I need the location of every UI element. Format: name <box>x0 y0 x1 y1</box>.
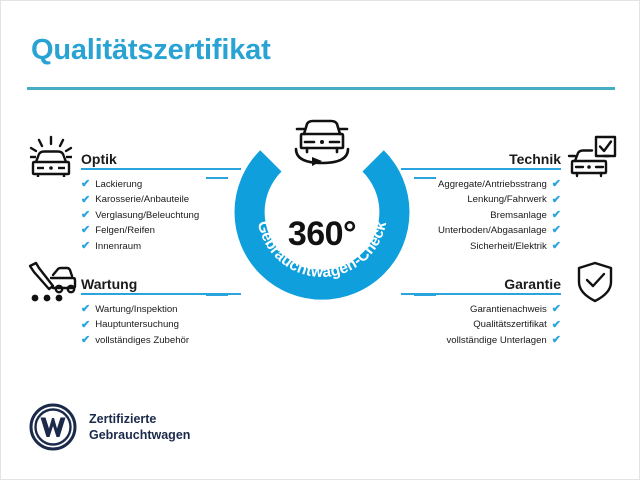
check-icon: ✔ <box>81 179 90 190</box>
list-item: ✔Felgen/Reifen <box>81 223 241 238</box>
section-header: Garantie <box>401 269 561 295</box>
list-item: ✔Karosserie/Anbauteile <box>81 192 241 207</box>
page-title: Qualitätszertifikat <box>31 34 271 67</box>
section-garantie: Garantie Garantienachweis✔ Qualitätszert… <box>401 269 561 348</box>
guide-tick <box>414 177 436 179</box>
check-icon: ✔ <box>81 195 90 206</box>
list-item-label: Felgen/Reifen <box>95 223 155 238</box>
list-item-label: vollständige Unterlagen <box>447 333 547 348</box>
guide-tick <box>206 177 228 179</box>
section-divider <box>401 168 561 170</box>
check-icon: ✔ <box>552 225 561 236</box>
list-item: Bremsanlage✔ <box>401 208 561 223</box>
list-item-label: vollständiges Zubehör <box>95 333 189 348</box>
certificate-page: Qualitätszertifikat <box>0 0 640 480</box>
list-item-label: Lackierung <box>95 177 142 192</box>
list-item-label: Wartung/Inspektion <box>95 302 177 317</box>
list-item: ✔Lackierung <box>81 177 241 192</box>
footer-line-2: Gebrauchtwagen <box>89 427 190 443</box>
list-item: Qualitätszertifikat✔ <box>401 317 561 332</box>
check-icon: ✔ <box>552 210 561 221</box>
list-item-label: Innenraum <box>95 239 141 254</box>
car-front-rotate-icon <box>282 113 362 173</box>
car-checkbox-icon <box>565 135 617 179</box>
list-item: ✔Verglasung/Beleuchtung <box>81 208 241 223</box>
check-icon: ✔ <box>81 241 90 252</box>
section-header: Optik <box>81 144 241 170</box>
section-header: Wartung <box>81 269 241 295</box>
section-title: Technik <box>509 151 561 167</box>
check-icon: ✔ <box>81 335 90 346</box>
guide-tick <box>206 294 228 296</box>
check-icon: ✔ <box>552 320 561 331</box>
list-item-label: Unterboden/Abgasanlage <box>438 223 547 238</box>
checklist: Garantienachweis✔ Qualitätszertifikat✔ v… <box>401 302 561 348</box>
list-item-label: Sicherheit/Elektrik <box>470 239 547 254</box>
list-item: Unterboden/Abgasanlage✔ <box>401 223 561 238</box>
section-optik: Optik ✔Lackierung ✔Karosserie/Anbauteile… <box>81 144 241 254</box>
section-title: Wartung <box>81 276 137 292</box>
list-item: Garantienachweis✔ <box>401 302 561 317</box>
list-item-label: Garantienachweis <box>470 302 547 317</box>
checklist: Aggregate/Antriebsstrang✔ Lenkung/Fahrwe… <box>401 177 561 254</box>
section-header: Technik <box>401 144 561 170</box>
list-item: vollständige Unterlagen✔ <box>401 333 561 348</box>
badge-center-label: 360° <box>229 215 415 254</box>
shield-check-icon <box>569 260 621 304</box>
list-item-label: Qualitätszertifikat <box>473 317 547 332</box>
footer-line-1: Zertifizierte <box>89 411 190 427</box>
section-divider <box>81 168 241 170</box>
guide-tick <box>414 294 436 296</box>
title-divider <box>27 87 615 90</box>
list-item-label: Hauptuntersuchung <box>95 317 179 332</box>
check-icon: ✔ <box>81 225 90 236</box>
section-title: Optik <box>81 151 117 167</box>
check-icon: ✔ <box>552 241 561 252</box>
section-technik: Technik Aggregate/Antriebsstrang✔ Lenkun… <box>401 144 561 254</box>
check-icon: ✔ <box>552 304 561 315</box>
list-item: Aggregate/Antriebsstrang✔ <box>401 177 561 192</box>
check-icon: ✔ <box>81 304 90 315</box>
checklist: ✔Lackierung ✔Karosserie/Anbauteile ✔Verg… <box>81 177 241 254</box>
section-wartung: Wartung ✔Wartung/Inspektion ✔Hauptunters… <box>81 269 241 348</box>
wrench-car-service-icon <box>25 260 77 304</box>
footer-text: Zertifizierte Gebrauchtwagen <box>89 411 190 443</box>
list-item: ✔Wartung/Inspektion <box>81 302 241 317</box>
list-item-label: Bremsanlage <box>490 208 547 223</box>
section-title: Garantie <box>504 276 561 292</box>
check-icon: ✔ <box>81 320 90 331</box>
list-item: Lenkung/Fahrwerk✔ <box>401 192 561 207</box>
list-item: ✔Hauptuntersuchung <box>81 317 241 332</box>
list-item-label: Verglasung/Beleuchtung <box>95 208 199 223</box>
list-item-label: Aggregate/Antriebsstrang <box>438 177 547 192</box>
badge-360-gebrauchtwagen-check: Gebrauchtwagen-Check 360° <box>229 119 415 305</box>
footer-brand: Zertifizierte Gebrauchtwagen <box>29 403 190 451</box>
check-icon: ✔ <box>552 179 561 190</box>
checklist: ✔Wartung/Inspektion ✔Hauptuntersuchung ✔… <box>81 302 241 348</box>
list-item: ✔Innenraum <box>81 239 241 254</box>
check-icon: ✔ <box>552 335 561 346</box>
check-icon: ✔ <box>552 195 561 206</box>
list-item-label: Karosserie/Anbauteile <box>95 192 189 207</box>
check-icon: ✔ <box>81 210 90 221</box>
car-shine-icon <box>25 135 77 179</box>
volkswagen-logo <box>29 403 77 451</box>
list-item: Sicherheit/Elektrik✔ <box>401 239 561 254</box>
list-item-label: Lenkung/Fahrwerk <box>467 192 546 207</box>
list-item: ✔vollständiges Zubehör <box>81 333 241 348</box>
